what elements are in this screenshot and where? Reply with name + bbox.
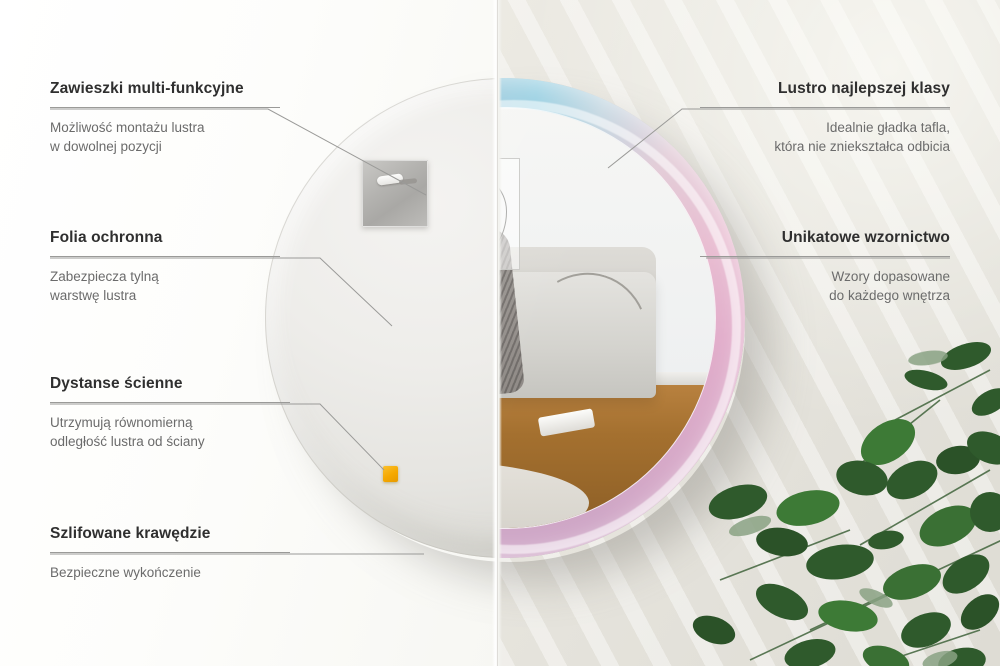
callout-unique-design-title: Unikatowe wzornictwo [700, 229, 950, 248]
callout-polished-edges: Szlifowane krawędzie Bezpieczne wykończe… [50, 525, 290, 582]
callout-protective-film: Folia ochronna Zabezpiecza tylną warstwę… [50, 229, 280, 306]
round-mirror [265, 78, 745, 558]
callout-wall-spacers-rule [50, 402, 290, 403]
callout-wall-spacers-title: Dystanse ścienne [50, 375, 290, 394]
callout-best-class-mirror-body: Idealnie gładka tafla, która nie znieksz… [700, 118, 950, 157]
callout-best-class-mirror-rule [700, 107, 950, 108]
callout-hangers: Zawieszki multi-funkcyjne Możliwość mont… [50, 80, 280, 157]
callout-protective-film-body: Zabezpiecza tylną warstwę lustra [50, 267, 280, 306]
callout-polished-edges-rule [50, 552, 290, 553]
callout-hangers-body: Możliwość montażu lustra w dowolnej pozy… [50, 118, 280, 157]
callout-protective-film-rule [50, 256, 280, 257]
hanger-plate-icon [362, 160, 428, 227]
callout-wall-spacers-body: Utrzymują równomierną odległość lustra o… [50, 413, 290, 452]
callout-best-class-mirror-title: Lustro najlepszej klasy [700, 80, 950, 99]
panel-seam-line [497, 0, 498, 666]
callout-best-class-mirror: Lustro najlepszej klasy Idealnie gładka … [700, 80, 950, 157]
callout-polished-edges-title: Szlifowane krawędzie [50, 525, 290, 544]
callout-wall-spacers: Dystanse ścienne Utrzymują równomierną o… [50, 375, 290, 452]
wall-spacer-icon [383, 466, 398, 482]
infographic-canvas: Zawieszki multi-funkcyjne Możliwość mont… [0, 0, 1000, 666]
hanger-slot-shadow [399, 178, 417, 185]
callout-protective-film-title: Folia ochronna [50, 229, 280, 248]
foliage-plant [690, 330, 1000, 666]
callout-unique-design-body: Wzory dopasowane do każdego wnętrza [700, 267, 950, 306]
callout-unique-design: Unikatowe wzornictwo Wzory dopasowane do… [700, 229, 950, 306]
callout-hangers-rule [50, 107, 280, 108]
callout-polished-edges-body: Bezpieczne wykończenie [50, 563, 290, 583]
callout-unique-design-rule [700, 256, 950, 257]
callout-hangers-title: Zawieszki multi-funkcyjne [50, 80, 280, 99]
